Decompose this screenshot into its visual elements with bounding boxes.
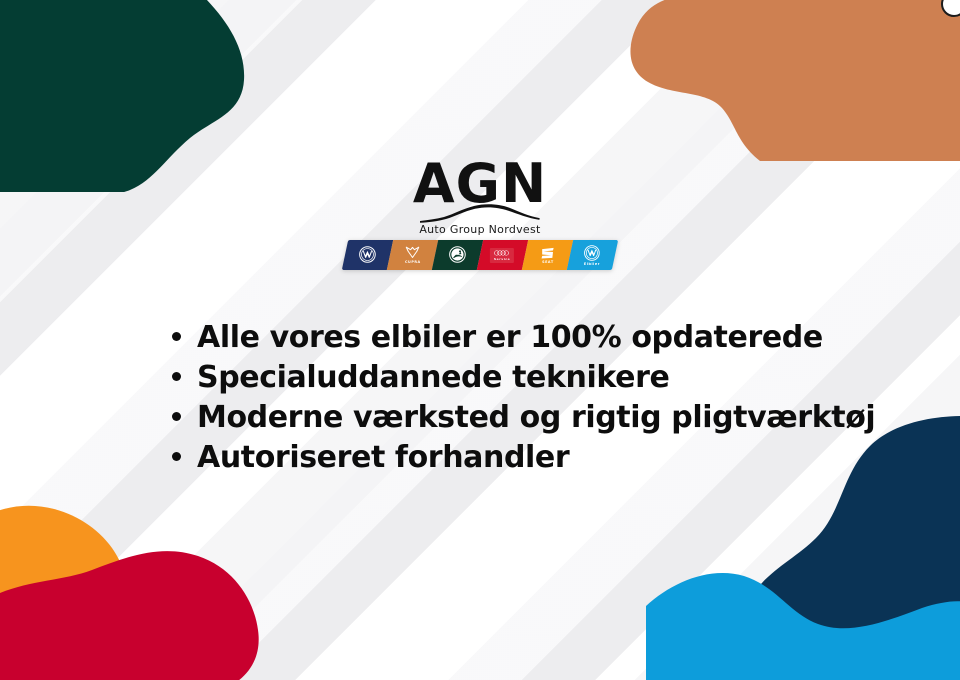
list-item: Specialuddannede teknikere xyxy=(172,360,875,400)
list-item: Alle vores elbiler er 100% opdaterede xyxy=(172,320,875,360)
bullet-dot-icon xyxy=(172,452,181,461)
corner-circle-icon xyxy=(941,0,960,17)
slide-canvas: AGN Auto Group Nordvest CUPRA xyxy=(0,0,960,680)
vw-roundel-icon xyxy=(359,246,376,263)
brand-label-seat: SEAT xyxy=(542,260,554,263)
decor-blob-bottom-left-red xyxy=(0,538,286,680)
logo-wordmark: AGN xyxy=(413,158,547,209)
brand-segment-volkswagen-elbiler[interactable]: Elbiler xyxy=(567,240,618,270)
brand-label-cupra: CUPRA xyxy=(405,261,421,264)
bullet-text: Alle vores elbiler er 100% opdaterede xyxy=(197,320,823,355)
logo-tagline: Auto Group Nordvest xyxy=(419,223,540,236)
list-item: Moderne værksted og rigtig pligtværktøj xyxy=(172,400,875,440)
bullet-dot-icon xyxy=(172,332,181,341)
brand-label-audi-service: Service xyxy=(494,258,510,261)
bullet-text: Autoriseret forhandler xyxy=(197,440,569,475)
brand-segment-skoda[interactable] xyxy=(432,240,483,270)
decor-blob-bottom-left-orange xyxy=(0,486,220,680)
decor-blob-bottom-right-blue xyxy=(646,558,960,680)
brand-label-elbiler: Elbiler xyxy=(584,262,600,265)
brand-segment-volkswagen[interactable] xyxy=(342,240,393,270)
vw-roundel-icon xyxy=(585,245,601,261)
bullet-text: Specialuddannede teknikere xyxy=(197,360,669,395)
decor-blob-top-right xyxy=(610,0,960,161)
agn-logo: AGN Auto Group Nordvest xyxy=(0,158,960,236)
brand-segment-audi-service[interactable]: Service xyxy=(477,240,528,270)
list-item: Autoriseret forhandler xyxy=(172,440,875,480)
brand-segment-cupra[interactable]: CUPRA xyxy=(387,240,438,270)
cupra-emblem-icon xyxy=(405,246,420,259)
skoda-winged-arrow-icon xyxy=(449,246,466,263)
brand-strip: CUPRA xyxy=(345,240,615,270)
bullet-text: Moderne værksted og rigtig pligtværktøj xyxy=(197,400,875,435)
seat-s-icon xyxy=(541,247,555,259)
car-silhouette-icon xyxy=(418,203,542,225)
brand-segment-seat[interactable]: SEAT xyxy=(522,240,573,270)
audi-rings-icon xyxy=(494,250,510,256)
bullet-dot-icon xyxy=(172,412,181,421)
feature-bullet-list: Alle vores elbiler er 100% opdaterede Sp… xyxy=(172,320,875,480)
bullet-dot-icon xyxy=(172,372,181,381)
